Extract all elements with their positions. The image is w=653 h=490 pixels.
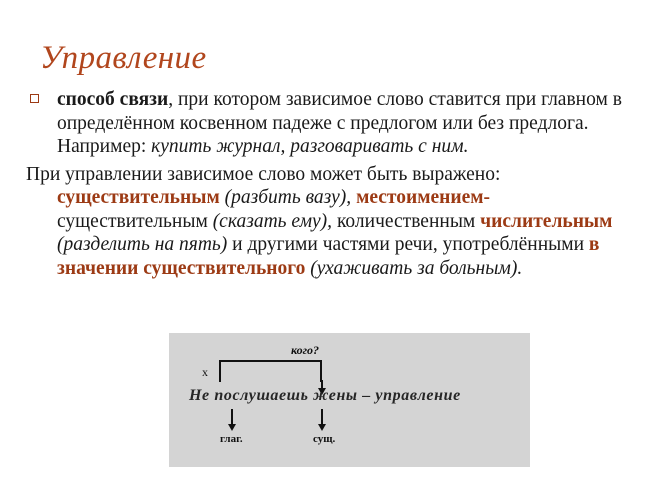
run-numeral-term: числительным: [480, 211, 612, 232]
bullet-list-item: способ связи, при котором зависимое слов…: [26, 88, 626, 159]
diagram-x-marker: х: [202, 365, 208, 380]
diagram-bracket-connector: [219, 360, 322, 382]
run-intro: При управлении зависимое слово может быт…: [26, 164, 500, 185]
slide-canvas: Управление способ связи, при котором зав…: [0, 0, 653, 490]
run-substantive-example: (ухаживать за больным).: [305, 258, 522, 279]
run-other-parts: и другими частями речи, употреблёнными: [232, 234, 589, 255]
run-pronoun-tail: существительным: [57, 211, 213, 232]
diagram-verb-label: глаг.: [220, 433, 243, 445]
run-pronoun-example: (сказать ему),: [213, 211, 337, 232]
diagram-arrow-noun: [321, 409, 323, 425]
bullet-bold-run: способ связи: [57, 89, 168, 110]
run-numeral-example: (разделить на пять): [57, 234, 232, 255]
run-pronoun-term: местоимением-: [356, 187, 490, 208]
bullet-item-text: способ связи, при котором зависимое слов…: [57, 88, 626, 159]
slide-body: способ связи, при котором зависимое слов…: [26, 88, 626, 280]
diagram-content: .............. кого? х Не послушаешь жен…: [169, 333, 530, 467]
run-quantitative: количественным: [337, 211, 480, 232]
page-title: Управление: [40, 40, 207, 77]
bullet-italic-run: купить журнал, разговаривать с ним.: [151, 136, 468, 157]
diagram-sentence: Не послушаешь жены – управление: [189, 387, 461, 405]
diagram-cutoff-top-text: ..............: [203, 333, 270, 336]
run-noun-term: существительным: [57, 187, 220, 208]
square-bullet-icon: [30, 94, 39, 103]
run-noun-example: (разбить вазу),: [220, 187, 356, 208]
diagram-noun-label: сущ.: [313, 433, 335, 445]
diagram-arrow-verb: [231, 409, 233, 425]
description-paragraph: При управлении зависимое слово может быт…: [26, 163, 626, 281]
upravlenie-diagram-image: .............. кого? х Не послушаешь жен…: [169, 333, 530, 467]
diagram-question-label: кого?: [291, 343, 319, 358]
